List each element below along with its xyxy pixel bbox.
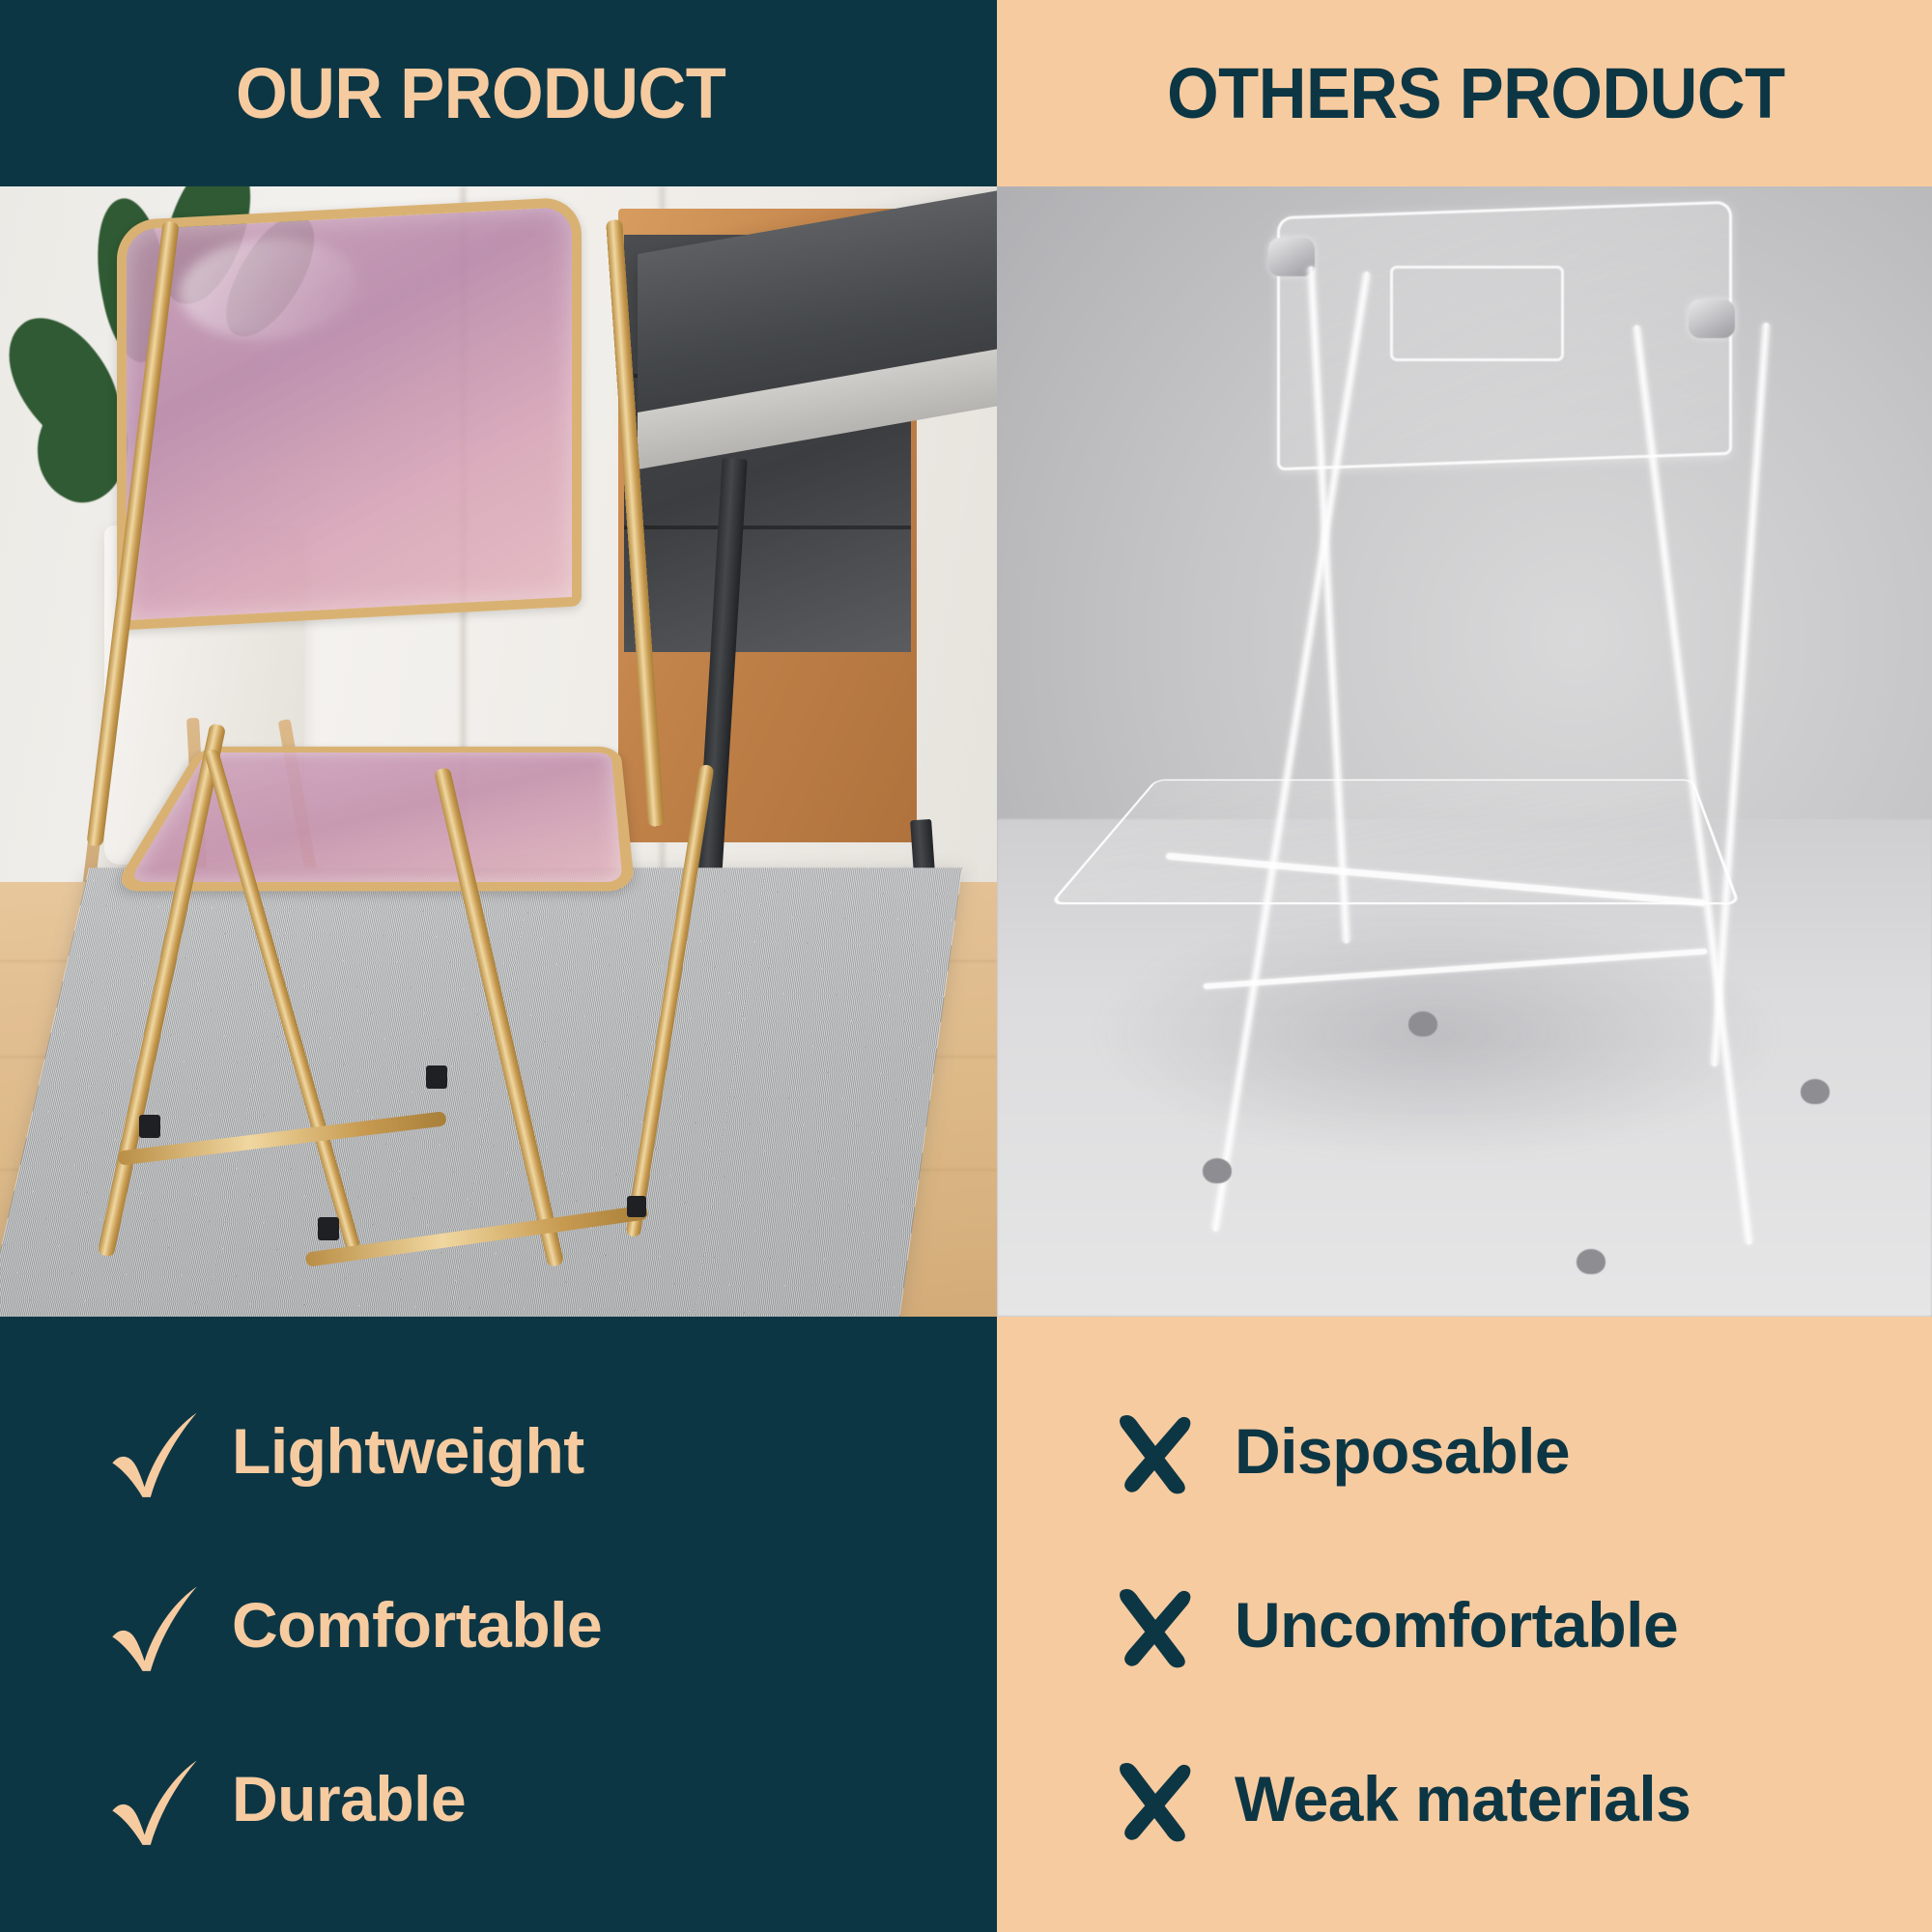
feature-label: Comfortable — [232, 1593, 602, 1657]
others-product-feature-list: Disposable Uncomfortable — [997, 1317, 1932, 1932]
chair-front-leg — [97, 723, 225, 1257]
our-product-title: OUR PRODUCT — [236, 58, 725, 129]
list-item: Lightweight — [0, 1364, 997, 1538]
list-item: Comfortable — [0, 1538, 997, 1712]
clear-chair-foot — [1577, 1249, 1605, 1274]
chair-backrest — [117, 196, 582, 631]
cross-icon — [1105, 1578, 1206, 1671]
check-icon — [104, 1748, 205, 1849]
clear-chair-crossbar — [1203, 949, 1707, 989]
feature-label: Lightweight — [232, 1419, 584, 1483]
others-product-title: OTHERS PRODUCT — [1167, 58, 1785, 129]
chair-rear-leg — [625, 764, 714, 1237]
feature-label: Uncomfortable — [1235, 1593, 1678, 1657]
list-item: Disposable — [997, 1364, 1932, 1538]
feature-label: Disposable — [1235, 1419, 1570, 1483]
check-icon — [104, 1401, 205, 1501]
chair-foot-cap — [139, 1115, 160, 1138]
clear-chair-backrest-slot — [1390, 266, 1564, 362]
chair-frame-rail — [606, 219, 665, 827]
clear-chair-hinge — [1689, 299, 1735, 338]
clear-folding-chair — [997, 186, 1932, 1317]
header-others-product: OTHERS PRODUCT — [997, 0, 1932, 186]
our-product-feature-list: Lightweight Comfortable — [0, 1317, 997, 1932]
header-band: OUR PRODUCT OTHERS PRODUCT — [0, 0, 1932, 186]
chair-foot-cap — [318, 1217, 339, 1240]
backrest-gloss — [181, 234, 358, 345]
clear-chair-foot — [1203, 1158, 1232, 1183]
list-item: Durable — [0, 1712, 997, 1886]
pink-folding-chair — [60, 198, 778, 1283]
header-our-product: OUR PRODUCT — [0, 0, 997, 186]
list-item: Uncomfortable — [997, 1538, 1932, 1712]
chair-base-bar — [118, 1111, 447, 1166]
feature-label: Weak materials — [1235, 1767, 1690, 1831]
clear-chair-seat — [1049, 779, 1740, 903]
list-item: Weak materials — [997, 1712, 1932, 1886]
feature-label: Durable — [232, 1767, 466, 1831]
photo-band — [0, 186, 1932, 1317]
others-product-photo — [997, 186, 1932, 1317]
comparison-infographic: OUR PRODUCT OTHERS PRODUCT — [0, 0, 1932, 1932]
our-product-photo — [0, 186, 997, 1317]
clear-chair-foot — [1408, 1011, 1437, 1037]
chair-foot-cap — [426, 1065, 447, 1089]
footer-band: Lightweight Comfortable — [0, 1317, 1932, 1932]
check-icon — [104, 1575, 205, 1675]
clear-chair-foot — [1801, 1079, 1830, 1104]
cross-icon — [1105, 1405, 1206, 1497]
cross-icon — [1105, 1752, 1206, 1845]
chair-foot-cap — [627, 1196, 646, 1217]
